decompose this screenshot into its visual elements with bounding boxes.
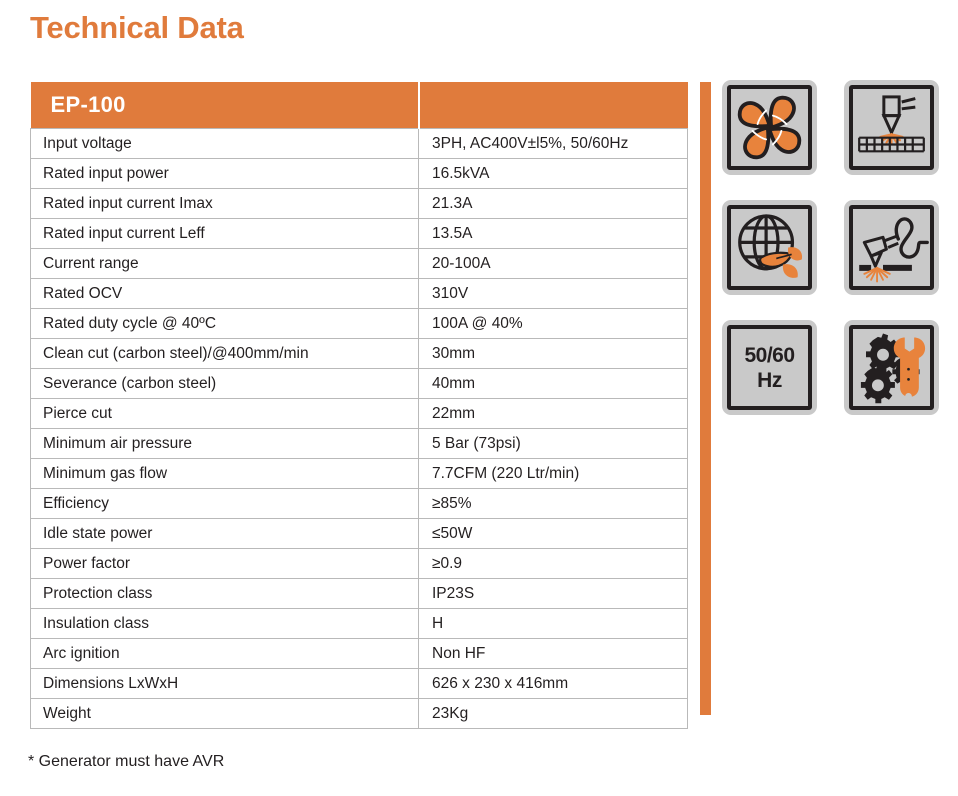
spec-label: Efficiency bbox=[31, 489, 419, 519]
torch-cut-icon bbox=[844, 200, 939, 295]
fan-icon bbox=[722, 80, 817, 175]
table-row: Pierce cut22mm bbox=[31, 399, 688, 429]
table-row: Dimensions LxWxH626 x 230 x 416mm bbox=[31, 669, 688, 699]
spec-label: Rated duty cycle @ 40ºC bbox=[31, 309, 419, 339]
frequency-line-2: Hz bbox=[757, 368, 782, 393]
spec-label: Clean cut (carbon steel)/@400mm/min bbox=[31, 339, 419, 369]
spec-label: Input voltage bbox=[31, 129, 419, 159]
spec-value: ≥85% bbox=[419, 489, 688, 519]
table-row: Input voltage3PH, AC400V±l5%, 50/60Hz bbox=[31, 129, 688, 159]
mesh-cut-icon bbox=[844, 80, 939, 175]
frequency-icon: 50/60 Hz bbox=[722, 320, 817, 415]
spec-label: Minimum air pressure bbox=[31, 429, 419, 459]
spec-value: 13.5A bbox=[419, 219, 688, 249]
spec-value: Non HF bbox=[419, 639, 688, 669]
spec-label: Current range bbox=[31, 249, 419, 279]
table-row: Minimum gas flow7.7CFM (220 Ltr/min) bbox=[31, 459, 688, 489]
spec-value: 20-100A bbox=[419, 249, 688, 279]
spec-value: 21.3A bbox=[419, 189, 688, 219]
spec-value: 16.5kVA bbox=[419, 159, 688, 189]
spec-label: Pierce cut bbox=[31, 399, 419, 429]
spec-value: IP23S bbox=[419, 579, 688, 609]
spec-value: 22mm bbox=[419, 399, 688, 429]
footnote: * Generator must have AVR bbox=[28, 753, 224, 771]
spec-value: 40mm bbox=[419, 369, 688, 399]
table-header-row: EP-100 bbox=[31, 82, 688, 129]
table-row: Insulation classH bbox=[31, 609, 688, 639]
spec-label: Dimensions LxWxH bbox=[31, 669, 419, 699]
globe-leaf-icon bbox=[722, 200, 817, 295]
spec-value: 3PH, AC400V±l5%, 50/60Hz bbox=[419, 129, 688, 159]
value-header bbox=[419, 82, 688, 129]
spec-value: 5 Bar (73psi) bbox=[419, 429, 688, 459]
technical-data-table: EP-100 Input voltage3PH, AC400V±l5%, 50/… bbox=[30, 82, 688, 729]
table-row: Rated input current Leff13.5A bbox=[31, 219, 688, 249]
table-body: Input voltage3PH, AC400V±l5%, 50/60HzRat… bbox=[31, 129, 688, 729]
spec-label: Insulation class bbox=[31, 609, 419, 639]
spec-value: 100A @ 40% bbox=[419, 309, 688, 339]
spec-value: 30mm bbox=[419, 339, 688, 369]
table-row: Idle state power≤50W bbox=[31, 519, 688, 549]
spec-label: Rated OCV bbox=[31, 279, 419, 309]
table-row: Minimum air pressure5 Bar (73psi) bbox=[31, 429, 688, 459]
spec-value: H bbox=[419, 609, 688, 639]
table-row: Severance (carbon steel)40mm bbox=[31, 369, 688, 399]
spec-value: ≥0.9 bbox=[419, 549, 688, 579]
spec-label: Weight bbox=[31, 699, 419, 729]
table-row: Power factor≥0.9 bbox=[31, 549, 688, 579]
gears-wrench-icon bbox=[844, 320, 939, 415]
feature-icon-grid: 50/60 Hz bbox=[722, 80, 939, 415]
page-title: Technical Data bbox=[30, 8, 244, 48]
table-row: Rated input power16.5kVA bbox=[31, 159, 688, 189]
spec-value: 310V bbox=[419, 279, 688, 309]
spec-label: Arc ignition bbox=[31, 639, 419, 669]
table-row: Current range20-100A bbox=[31, 249, 688, 279]
spec-label: Rated input current Imax bbox=[31, 189, 419, 219]
table-row: Clean cut (carbon steel)/@400mm/min30mm bbox=[31, 339, 688, 369]
table-row: Arc ignitionNon HF bbox=[31, 639, 688, 669]
table-row: Weight23Kg bbox=[31, 699, 688, 729]
spec-label: Power factor bbox=[31, 549, 419, 579]
table-row: Protection classIP23S bbox=[31, 579, 688, 609]
spec-label: Rated input current Leff bbox=[31, 219, 419, 249]
table-row: Efficiency≥85% bbox=[31, 489, 688, 519]
table-row: Rated duty cycle @ 40ºC100A @ 40% bbox=[31, 309, 688, 339]
table-row: Rated input current Imax21.3A bbox=[31, 189, 688, 219]
frequency-line-1: 50/60 bbox=[744, 343, 794, 368]
spec-label: Minimum gas flow bbox=[31, 459, 419, 489]
spec-label: Severance (carbon steel) bbox=[31, 369, 419, 399]
spec-value: ≤50W bbox=[419, 519, 688, 549]
spec-value: 626 x 230 x 416mm bbox=[419, 669, 688, 699]
spec-value: 23Kg bbox=[419, 699, 688, 729]
model-header: EP-100 bbox=[31, 82, 419, 129]
spec-value: 7.7CFM (220 Ltr/min) bbox=[419, 459, 688, 489]
orange-vertical-rule bbox=[700, 82, 711, 715]
spec-label: Rated input power bbox=[31, 159, 419, 189]
table-row: Rated OCV310V bbox=[31, 279, 688, 309]
spec-label: Idle state power bbox=[31, 519, 419, 549]
spec-label: Protection class bbox=[31, 579, 419, 609]
